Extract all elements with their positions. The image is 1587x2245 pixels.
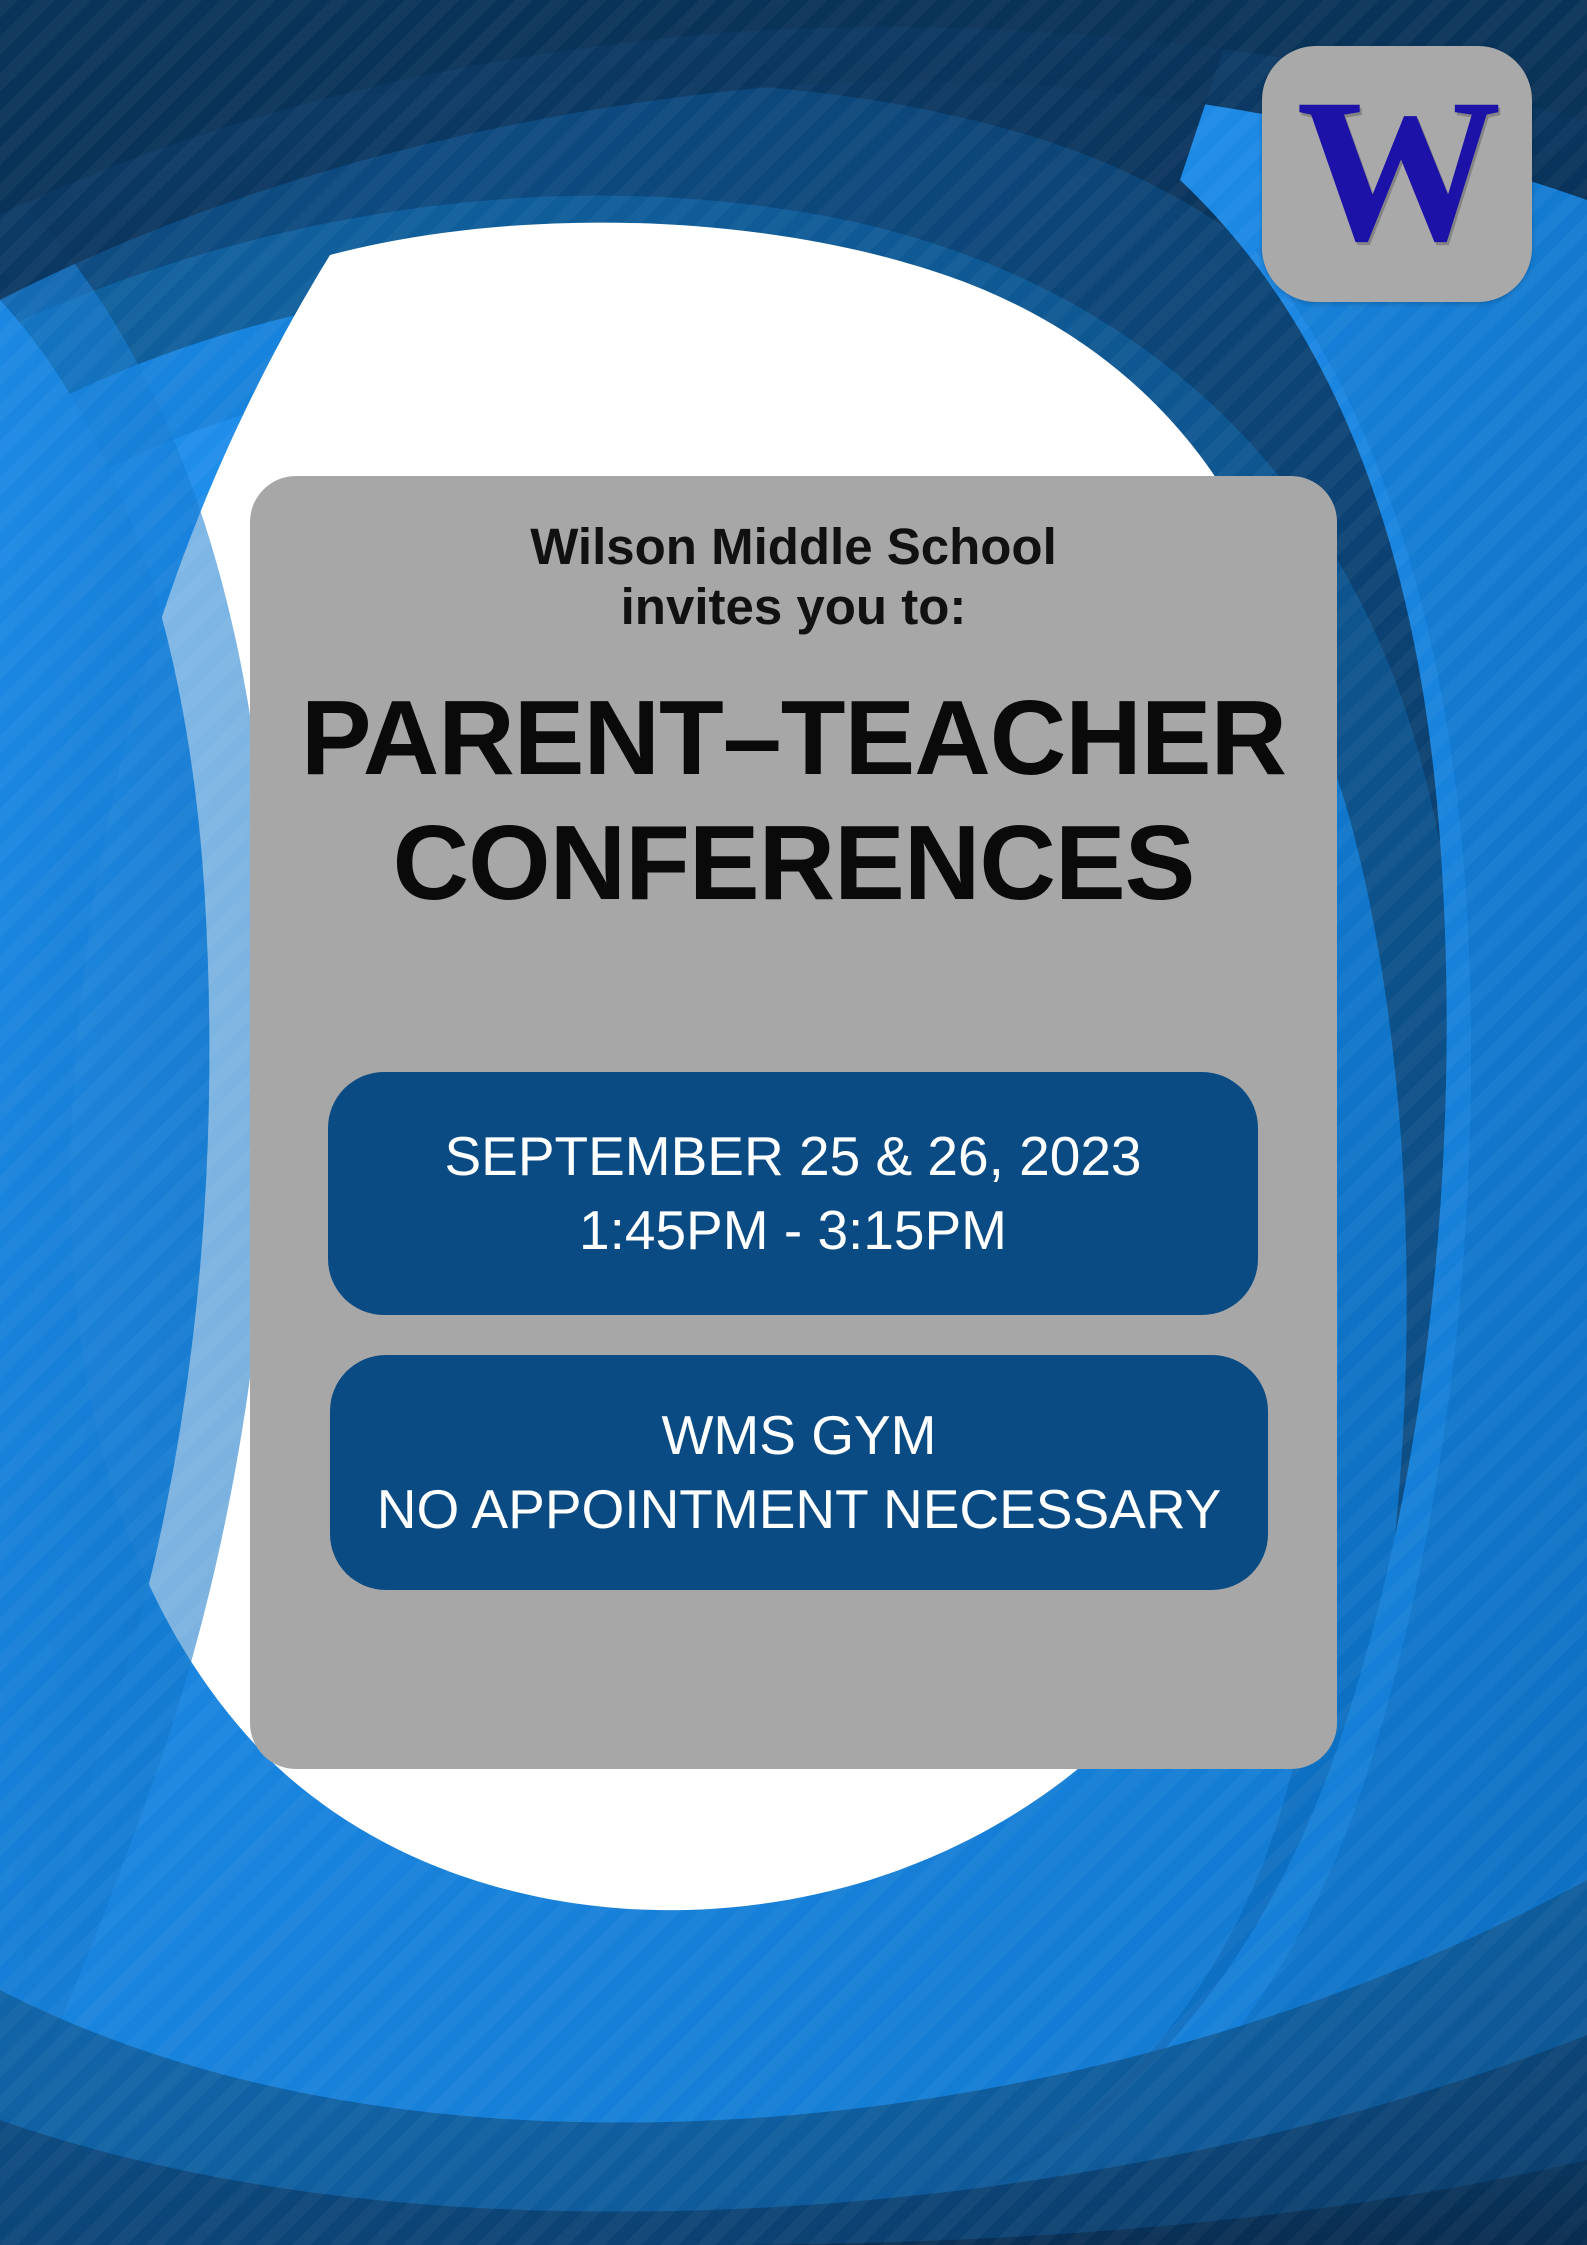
- datetime-time: 1:45PM - 3:15PM: [579, 1194, 1007, 1267]
- headline-line-1: PARENT–TEACHER: [278, 676, 1309, 801]
- headline-line-2: CONFERENCES: [278, 801, 1309, 926]
- location-pill: WMS GYM NO APPOINTMENT NECESSARY: [330, 1355, 1268, 1590]
- location-note: NO APPOINTMENT NECESSARY: [377, 1473, 1222, 1546]
- invite-text: Wilson Middle School invites you to:: [250, 476, 1337, 636]
- poster-canvas: W Wilson Middle School invites you to: P…: [0, 0, 1587, 2245]
- invite-line-school: Wilson Middle School: [250, 517, 1337, 577]
- page-title: PARENT–TEACHER CONFERENCES: [250, 636, 1337, 926]
- content-card: Wilson Middle School invites you to: PAR…: [250, 476, 1337, 1769]
- datetime-date: SEPTEMBER 25 & 26, 2023: [444, 1120, 1141, 1193]
- datetime-pill: SEPTEMBER 25 & 26, 2023 1:45PM - 3:15PM: [328, 1072, 1258, 1315]
- invite-line-cta: invites you to:: [250, 577, 1337, 637]
- wilson-w-logo-icon: W: [1297, 68, 1498, 273]
- school-logo-badge: W: [1262, 46, 1532, 302]
- location-venue: WMS GYM: [662, 1399, 937, 1472]
